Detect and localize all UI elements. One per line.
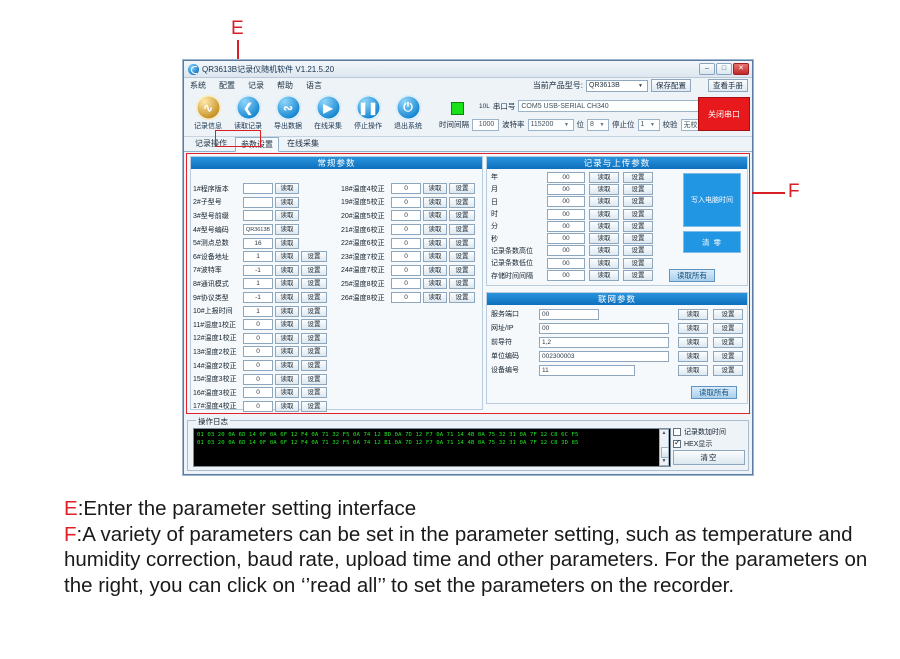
network-parameter-label: 单位编码 — [491, 351, 539, 361]
parameter-label: 17#湿度4校正 — [193, 401, 243, 411]
parameter-row: 1#程序版本读取设置 — [193, 182, 336, 196]
menu-item-config[interactable]: 配置 — [219, 80, 235, 91]
chevron-down-icon: ▼ — [635, 81, 646, 91]
parameter-input[interactable]: 1 — [243, 278, 273, 289]
parameter-row: 26#温度8校正0读取设置 — [341, 291, 481, 305]
parameter-set-button[interactable]: 设置 — [449, 251, 475, 262]
record-parameter-row: 分00读取设置 — [491, 220, 677, 232]
operation-log-console[interactable]: 01 03 20 0A 6D 14 0F 0A 6F 12 F4 0A 71 3… — [193, 428, 671, 467]
parameter-input[interactable]: 0 — [391, 251, 421, 262]
toolbar-label-exit: 退出系统 — [394, 121, 422, 131]
parameter-label: 11#湿度1校正 — [193, 320, 243, 330]
record-parameter-input[interactable]: 00 — [547, 221, 585, 232]
toolbar-button-export-data[interactable]: ∾ 导出数据 — [268, 94, 308, 131]
parameter-set-button[interactable]: 设置 — [301, 387, 327, 398]
maximize-button[interactable]: □ — [716, 63, 732, 75]
parameter-input[interactable]: 1 — [243, 306, 273, 317]
parameter-read-button[interactable]: 读取 — [275, 183, 299, 194]
operation-log-frame: 操作日志 01 03 20 0A 6D 14 0F 0A 6F 12 F4 0A… — [187, 420, 749, 471]
record-parameter-input[interactable]: 00 — [547, 184, 585, 195]
network-parameter-row: 网址/IP00读取设置 — [491, 321, 743, 335]
save-config-button[interactable]: 保存配置 — [651, 79, 691, 92]
parameter-row: 6#设备地址1读取设置 — [193, 250, 336, 264]
parameter-label: 8#通讯模式 — [193, 279, 243, 289]
chevron-down-icon: ▼ — [597, 120, 607, 130]
parameter-label: 18#温度4校正 — [341, 184, 391, 194]
parameter-label: 9#协议类型 — [193, 293, 243, 303]
parameter-label: 26#温度8校正 — [341, 293, 391, 303]
parameter-read-button[interactable]: 读取 — [423, 238, 447, 249]
serial-settings-zone: 10L 串口号 COM5 USB-SERIAL CH340 ▼ 时间间隔 100… — [439, 93, 752, 137]
toolbar-label-online-collect: 在线采集 — [314, 121, 342, 131]
read-all-network-button[interactable]: 读取所有 — [691, 386, 737, 399]
parameter-input[interactable]: 0 — [243, 319, 273, 330]
network-read-button[interactable]: 读取 — [678, 323, 708, 334]
general-parameters-header: 常规参数 — [191, 157, 482, 169]
network-parameter-input[interactable]: 11 — [539, 365, 635, 376]
record-parameter-label: 日 — [491, 197, 547, 207]
tab-online-collection[interactable]: 在线采集 — [281, 136, 325, 151]
databits-label: 位 — [577, 119, 585, 130]
network-read-button[interactable]: 读取 — [678, 351, 708, 362]
record-parameter-label: 记录条数低位 — [491, 258, 547, 268]
parameter-set-button[interactable]: 设置 — [301, 251, 327, 262]
menu-item-language[interactable]: 语言 — [306, 80, 322, 91]
parameter-set-button[interactable]: 设置 — [449, 265, 475, 276]
scrollbar-thumb[interactable] — [661, 447, 669, 458]
record-parameter-row: 月00读取设置 — [491, 183, 677, 195]
parameter-row: 13#湿度2校正0读取设置 — [193, 345, 336, 359]
log-options-area: 记录数加时间 HEX显示 清空 — [673, 426, 745, 468]
pause-icon: ❚❚ — [356, 95, 381, 120]
parameter-row: 12#温度1校正0读取设置 — [193, 332, 336, 346]
parameter-read-button[interactable]: 读取 — [275, 210, 299, 221]
annotation-marker-e: E — [231, 18, 244, 40]
record-set-button[interactable]: 设置 — [623, 245, 653, 256]
window-title: QR3613B记录仪随机软件 V1.21.5.20 — [202, 64, 334, 75]
green-status-led-icon — [451, 102, 464, 115]
parameter-input[interactable] — [243, 197, 273, 208]
parameter-row: 24#温度7校正0读取设置 — [341, 264, 481, 278]
record-upload-parameters-panel: 记录与上传参数 年00读取设置月00读取设置日00读取设置时00读取设置分00读… — [486, 156, 748, 286]
menu-item-help[interactable]: 帮助 — [277, 80, 293, 91]
annotation-marker-f: F — [788, 181, 800, 203]
parameter-read-button[interactable]: 读取 — [275, 292, 299, 303]
record-read-button[interactable]: 读取 — [589, 221, 619, 232]
hex-display-label: HEX显示 — [684, 439, 712, 449]
tab-strip: 记录操作 参数设置 在线采集 — [184, 137, 752, 152]
record-read-button[interactable]: 读取 — [589, 196, 619, 207]
main-toolbar: ∿ 记录信息 ❮ 读取记录 ∾ 导出数据 ▶ 在线采集 ❚❚ 停止操作 ⏻ 退出… — [184, 93, 752, 137]
parameter-row: 14#温度2校正0读取设置 — [193, 359, 336, 373]
toolbar-button-record-info[interactable]: ∿ 记录信息 — [188, 94, 228, 131]
parameter-read-button[interactable]: 读取 — [423, 197, 447, 208]
parameter-read-button[interactable]: 读取 — [423, 251, 447, 262]
operation-log-legend: 操作日志 — [196, 416, 230, 427]
minimize-button[interactable]: – — [699, 63, 715, 75]
parameter-set-button[interactable]: 设置 — [301, 292, 327, 303]
checkbox-row-timestamp[interactable]: 记录数加时间 — [673, 426, 745, 437]
parameter-row: 11#湿度1校正0读取设置 — [193, 318, 336, 332]
record-set-button[interactable]: 设置 — [623, 196, 653, 207]
clear-zero-button[interactable]: 清 零 — [683, 231, 741, 253]
share-arrow-icon: ❮ — [236, 95, 261, 120]
parity-label: 校验 — [663, 119, 678, 130]
general-parameters-column-right: 18#温度4校正0读取设置19#湿度5校正0读取设置20#温度5校正0读取设置2… — [341, 182, 481, 304]
record-parameter-label: 分 — [491, 221, 547, 231]
parameter-set-button[interactable]: 设置 — [301, 265, 327, 276]
parameter-input[interactable]: 0 — [391, 292, 421, 303]
parameter-label: 15#湿度3校正 — [193, 374, 243, 384]
network-parameter-label: 前导符 — [491, 337, 539, 347]
record-parameter-row: 年00读取设置 — [491, 171, 677, 183]
parameter-input[interactable] — [243, 183, 273, 194]
wave-chart-icon: ∿ — [196, 95, 221, 120]
network-set-button[interactable]: 设置 — [713, 365, 743, 376]
chevron-down-icon: ▼ — [562, 120, 572, 130]
scroll-up-arrow-icon[interactable]: ▲ — [660, 430, 668, 437]
parameter-read-button[interactable]: 读取 — [423, 224, 447, 235]
record-set-button[interactable]: 设置 — [623, 172, 653, 183]
power-icon: ⏻ — [396, 95, 421, 120]
parameter-row: 8#通讯模式1读取设置 — [193, 277, 336, 291]
menu-item-record[interactable]: 记录 — [248, 80, 264, 91]
parameter-input[interactable]: 1 — [243, 251, 273, 262]
record-upload-header: 记录与上传参数 — [487, 157, 747, 169]
network-parameters-panel: 联网参数 服务端口00读取设置网址/IP00读取设置前导符1,2读取设置单位编码… — [486, 292, 748, 404]
parameter-read-button[interactable]: 读取 — [275, 197, 299, 208]
app-wave-logo-icon — [188, 64, 199, 75]
record-parameter-row: 日00读取设置 — [491, 196, 677, 208]
interval-label: 时间间隔 — [439, 119, 469, 130]
record-parameter-input[interactable]: 00 — [547, 233, 585, 244]
parameter-input[interactable]: -1 — [243, 292, 273, 303]
parameter-input[interactable]: 0 — [243, 360, 273, 371]
record-parameter-label: 秒 — [491, 234, 547, 244]
record-set-button[interactable]: 设置 — [623, 233, 653, 244]
scroll-down-arrow-icon[interactable]: ▼ — [660, 458, 668, 465]
parameter-input[interactable]: -1 — [243, 265, 273, 276]
parameter-read-button[interactable]: 读取 — [275, 238, 299, 249]
network-set-button[interactable]: 设置 — [713, 323, 743, 334]
parameter-label: 5#测点总数 — [193, 238, 243, 248]
caption-key-e: E — [64, 497, 78, 520]
parameter-label: 21#湿度6校正 — [341, 225, 391, 235]
record-parameter-label: 月 — [491, 184, 547, 194]
parameter-set-button[interactable]: 设置 — [449, 278, 475, 289]
parameter-read-button[interactable]: 读取 — [275, 360, 299, 371]
record-parameter-row: 时00读取设置 — [491, 208, 677, 220]
general-parameters-panel: 常规参数 1#程序版本读取设置2#子型号读取设置3#型号前缀读取设置4#型号编码… — [190, 156, 483, 410]
parameter-read-button[interactable]: 读取 — [423, 292, 447, 303]
parameter-row: 4#型号编码QR3613B读取设置 — [193, 223, 336, 237]
parameter-label: 10#上报时间 — [193, 306, 243, 316]
parameter-read-button[interactable]: 读取 — [275, 333, 299, 344]
caption-key-f: F — [64, 523, 77, 546]
network-parameter-row: 服务端口00读取设置 — [491, 307, 743, 321]
parameter-set-button[interactable]: 设置 — [301, 401, 327, 412]
record-parameter-label: 存储时间间隔 — [491, 271, 547, 281]
baud-label: 波特率 — [502, 119, 525, 130]
parameter-read-button[interactable]: 读取 — [275, 387, 299, 398]
stopbits-label: 停止位 — [612, 119, 635, 130]
parameter-row: 10#上报时间1读取设置 — [193, 304, 336, 318]
caption-text-f: :A variety of parameters can be set in t… — [64, 523, 867, 597]
parameter-label: 3#型号前缀 — [193, 211, 243, 221]
checkbox-row-hex[interactable]: HEX显示 — [673, 438, 745, 449]
parameter-read-button[interactable]: 读取 — [275, 346, 299, 357]
parameter-input[interactable]: 0 — [391, 265, 421, 276]
parameter-label: 16#温度3校正 — [193, 388, 243, 398]
parameter-set-button[interactable]: 设置 — [449, 238, 475, 249]
parameter-input[interactable]: 0 — [391, 278, 421, 289]
record-parameter-label: 记录条数高位 — [491, 246, 547, 256]
parameter-set-button[interactable]: 设置 — [301, 360, 327, 371]
view-manual-button[interactable]: 查看手册 — [708, 79, 748, 92]
parameter-row: 21#湿度6校正0读取设置 — [341, 223, 481, 237]
toolbar-label-export-data: 导出数据 — [274, 121, 302, 131]
waveform-icon: ∾ — [276, 95, 301, 120]
record-parameter-input[interactable]: 00 — [547, 258, 585, 269]
record-timestamp-label: 记录数加时间 — [684, 427, 726, 437]
record-read-button[interactable]: 读取 — [589, 270, 619, 281]
log-scrollbar[interactable]: ▲ ▼ — [659, 429, 669, 466]
record-parameter-row: 记录条数低位00读取设置 — [491, 257, 677, 269]
stopbits-value: 1 — [641, 121, 645, 128]
parameter-read-button[interactable]: 读取 — [423, 265, 447, 276]
play-icon: ▶ — [316, 95, 341, 120]
caption-text-e: :Enter the parameter setting interface — [78, 497, 416, 520]
parameter-label: 2#子型号 — [193, 197, 243, 207]
parameter-set-button[interactable]: 设置 — [301, 278, 327, 289]
record-set-button[interactable]: 设置 — [623, 258, 653, 269]
toolbar-button-online-collect[interactable]: ▶ 在线采集 — [308, 94, 348, 131]
parameter-row: 5#测点总数16读取设置 — [193, 236, 336, 250]
parameter-set-button[interactable]: 设置 — [301, 346, 327, 357]
record-parameter-input[interactable]: 00 — [547, 270, 585, 281]
parameter-set-button[interactable]: 设置 — [449, 197, 475, 208]
network-parameter-label: 网址/IP — [491, 323, 539, 333]
network-parameters-rows: 服务端口00读取设置网址/IP00读取设置前导符1,2读取设置单位编码00230… — [491, 307, 743, 377]
record-parameter-label: 年 — [491, 172, 547, 182]
parameter-set-button[interactable]: 设置 — [449, 224, 475, 235]
network-read-button[interactable]: 读取 — [678, 365, 708, 376]
parameter-input[interactable]: 0 — [243, 401, 273, 412]
parameter-set-button[interactable]: 设置 — [449, 183, 475, 194]
parameter-label: 25#湿度8校正 — [341, 279, 391, 289]
title-bar: QR3613B记录仪随机软件 V1.21.5.20 – □ ✕ — [184, 61, 752, 78]
network-parameter-input[interactable]: 00 — [539, 309, 599, 320]
toolbar-button-exit[interactable]: ⏻ 退出系统 — [388, 94, 428, 131]
network-set-button[interactable]: 设置 — [713, 309, 743, 320]
record-upload-rows: 年00读取设置月00读取设置日00读取设置时00读取设置分00读取设置秒00读取… — [491, 171, 677, 282]
toolbar-button-stop[interactable]: ❚❚ 停止操作 — [348, 94, 388, 131]
parameter-row: 7#波特率-1读取设置 — [193, 264, 336, 278]
parameter-row: 16#温度3校正0读取设置 — [193, 386, 336, 400]
parameter-read-button[interactable]: 读取 — [423, 183, 447, 194]
stopbits-select[interactable]: 1 ▼ — [638, 119, 660, 131]
parameter-row: 23#湿度7校正0读取设置 — [341, 250, 481, 264]
parameter-read-button[interactable]: 读取 — [423, 210, 447, 221]
parameter-input[interactable]: 0 — [243, 374, 273, 385]
parameter-read-button[interactable]: 读取 — [275, 319, 299, 330]
parameter-settings-pane: 常规参数 1#程序版本读取设置2#子型号读取设置3#型号前缀读取设置4#型号编码… — [186, 153, 750, 414]
parameter-row: 17#湿度4校正0读取设置 — [193, 400, 336, 414]
parameter-label: 24#温度7校正 — [341, 265, 391, 275]
caption-line-f: F:A variety of parameters can be set in … — [64, 522, 874, 599]
parameter-label: 20#温度5校正 — [341, 211, 391, 221]
log-line: 01 03 20 0A 6D 14 0F 0A 6F 12 F4 0A 71 3… — [197, 439, 668, 447]
parameter-row: 3#型号前缀读取设置 — [193, 209, 336, 223]
toolbar-button-read-records[interactable]: ❮ 读取记录 — [228, 94, 268, 131]
parameter-label: 23#湿度7校正 — [341, 252, 391, 262]
record-parameter-row: 秒00读取设置 — [491, 232, 677, 244]
record-read-button[interactable]: 读取 — [589, 245, 619, 256]
record-parameter-input[interactable]: 00 — [547, 172, 585, 183]
interval-unit-label: 10L — [479, 103, 490, 110]
product-model-value: QR3613B — [589, 82, 620, 89]
parameter-row: 18#温度4校正0读取设置 — [341, 182, 481, 196]
record-read-button[interactable]: 读取 — [589, 172, 619, 183]
parameter-label: 7#波特率 — [193, 265, 243, 275]
record-set-button[interactable]: 设置 — [623, 221, 653, 232]
application-window: QR3613B记录仪随机软件 V1.21.5.20 – □ ✕ 系统 配置 记录… — [183, 60, 753, 475]
network-read-button[interactable]: 读取 — [678, 337, 708, 348]
parameter-set-button[interactable]: 设置 — [449, 210, 475, 221]
close-button[interactable]: ✕ — [733, 63, 749, 75]
record-parameter-input[interactable]: 00 — [547, 209, 585, 220]
serial-port-value: COM5 USB-SERIAL CH340 — [521, 103, 608, 110]
parameter-row: 22#温度6校正0读取设置 — [341, 236, 481, 250]
record-parameter-label: 时 — [491, 209, 547, 219]
close-port-button[interactable]: 关闭串口 — [698, 97, 750, 131]
parameter-label: 13#湿度2校正 — [193, 347, 243, 357]
databits-select[interactable]: 8 ▼ — [587, 119, 609, 131]
record-set-button[interactable]: 设置 — [623, 184, 653, 195]
network-parameter-row: 设备编号11读取设置 — [491, 363, 743, 377]
parameter-row: 19#湿度5校正0读取设置 — [341, 196, 481, 210]
network-set-button[interactable]: 设置 — [713, 337, 743, 348]
clear-log-button[interactable]: 清空 — [673, 450, 745, 465]
parameter-label: 22#温度6校正 — [341, 238, 391, 248]
parameter-input[interactable]: 0 — [391, 224, 421, 235]
parameter-set-button[interactable]: 设置 — [301, 306, 327, 317]
record-read-button[interactable]: 读取 — [589, 184, 619, 195]
record-parameter-input[interactable]: 00 — [547, 196, 585, 207]
parameter-set-button[interactable]: 设置 — [301, 319, 327, 330]
parameter-set-button[interactable]: 设置 — [301, 333, 327, 344]
menu-item-system[interactable]: 系统 — [190, 80, 206, 91]
parameter-read-button[interactable]: 读取 — [275, 278, 299, 289]
port-label: 串口号 — [493, 101, 516, 112]
annotation-highlight-box-e — [215, 130, 261, 147]
network-parameter-input[interactable]: 002300003 — [539, 351, 669, 362]
parameter-row: 20#温度5校正0读取设置 — [341, 209, 481, 223]
parameter-label: 6#设备地址 — [193, 252, 243, 262]
menu-bar: 系统 配置 记录 帮助 语言 当前产品型号: QR3613B ▼ 保存配置 查看… — [184, 78, 752, 93]
parameter-row: 15#湿度3校正0读取设置 — [193, 372, 336, 386]
log-line: 01 03 20 0A 6D 14 0F 0A 6F 12 F4 0A 71 3… — [197, 431, 668, 439]
network-parameter-label: 设备编号 — [491, 365, 539, 375]
parameter-input[interactable]: 0 — [391, 197, 421, 208]
parameter-input[interactable]: 0 — [391, 210, 421, 221]
record-set-button[interactable]: 设置 — [623, 209, 653, 220]
hex-display-checkbox[interactable] — [673, 440, 681, 448]
window-controls: – □ ✕ — [699, 63, 750, 75]
network-read-button[interactable]: 读取 — [678, 309, 708, 320]
read-all-record-button[interactable]: 读取所有 — [669, 269, 715, 282]
record-parameter-input[interactable]: 00 — [547, 245, 585, 256]
parameter-input[interactable]: QR3613B — [243, 224, 273, 235]
record-set-button[interactable]: 设置 — [623, 270, 653, 281]
operation-log-section: 操作日志 01 03 20 0A 6D 14 0F 0A 6F 12 F4 0A… — [186, 416, 750, 472]
parameter-label: 4#型号编码 — [193, 225, 243, 235]
parameter-set-button[interactable]: 设置 — [449, 292, 475, 303]
annotation-leader-line-f — [752, 192, 785, 194]
record-parameter-row: 存储时间间隔00读取设置 — [491, 269, 677, 281]
parameter-set-button[interactable]: 设置 — [301, 374, 327, 385]
network-parameter-input[interactable]: 1,2 — [539, 337, 669, 348]
general-parameters-column-left: 1#程序版本读取设置2#子型号读取设置3#型号前缀读取设置4#型号编码QR361… — [193, 182, 336, 413]
parameter-input[interactable] — [243, 210, 273, 221]
network-set-button[interactable]: 设置 — [713, 351, 743, 362]
parameter-read-button[interactable]: 读取 — [275, 374, 299, 385]
record-read-button[interactable]: 读取 — [589, 209, 619, 220]
write-pc-time-button[interactable]: 写入电脑时间 — [683, 173, 741, 227]
caption-block: E:Enter the parameter setting interface … — [64, 496, 874, 598]
parameter-read-button[interactable]: 读取 — [275, 265, 299, 276]
parameter-row: 9#协议类型-1读取设置 — [193, 291, 336, 305]
parameter-input[interactable]: 0 — [243, 333, 273, 344]
record-timestamp-checkbox[interactable] — [673, 428, 681, 436]
baud-select[interactable]: 115200 ▼ — [528, 119, 574, 131]
record-read-button[interactable]: 读取 — [589, 258, 619, 269]
record-parameter-row: 记录条数高位00读取设置 — [491, 245, 677, 257]
parameter-label: 14#温度2校正 — [193, 361, 243, 371]
toolbar-label-stop: 停止操作 — [354, 121, 382, 131]
parameter-input[interactable]: 0 — [243, 387, 273, 398]
caption-line-e: E:Enter the parameter setting interface — [64, 496, 874, 522]
parameter-input[interactable]: 0 — [243, 346, 273, 357]
parameter-label: 12#温度1校正 — [193, 333, 243, 343]
product-model-label: 当前产品型号: — [533, 80, 583, 91]
chevron-down-icon: ▼ — [648, 120, 658, 130]
network-parameters-header: 联网参数 — [487, 293, 747, 305]
record-read-button[interactable]: 读取 — [589, 233, 619, 244]
parameter-label: 1#程序版本 — [193, 184, 243, 194]
network-parameter-label: 服务端口 — [491, 309, 539, 319]
parameter-input[interactable]: 0 — [391, 238, 421, 249]
parameter-read-button[interactable]: 读取 — [423, 278, 447, 289]
parameter-row: 25#湿度8校正0读取设置 — [341, 277, 481, 291]
parameter-input[interactable]: 16 — [243, 238, 273, 249]
interval-input[interactable]: 1000 — [472, 119, 499, 131]
product-model-area: 当前产品型号: QR3613B ▼ 保存配置 查看手册 — [533, 78, 748, 93]
product-model-select[interactable]: QR3613B ▼ — [586, 80, 648, 92]
network-parameter-row: 前导符1,2读取设置 — [491, 335, 743, 349]
parameter-read-button[interactable]: 读取 — [275, 306, 299, 317]
network-parameter-row: 单位编码002300003读取设置 — [491, 349, 743, 363]
parameter-read-button[interactable]: 读取 — [275, 251, 299, 262]
databits-value: 8 — [590, 121, 594, 128]
parameter-read-button[interactable]: 读取 — [275, 224, 299, 235]
parameter-row: 2#子型号读取设置 — [193, 196, 336, 210]
network-parameter-input[interactable]: 00 — [539, 323, 669, 334]
parameter-read-button[interactable]: 读取 — [275, 401, 299, 412]
parameter-input[interactable]: 0 — [391, 183, 421, 194]
baud-value: 115200 — [531, 121, 554, 128]
parameter-label: 19#湿度5校正 — [341, 197, 391, 207]
